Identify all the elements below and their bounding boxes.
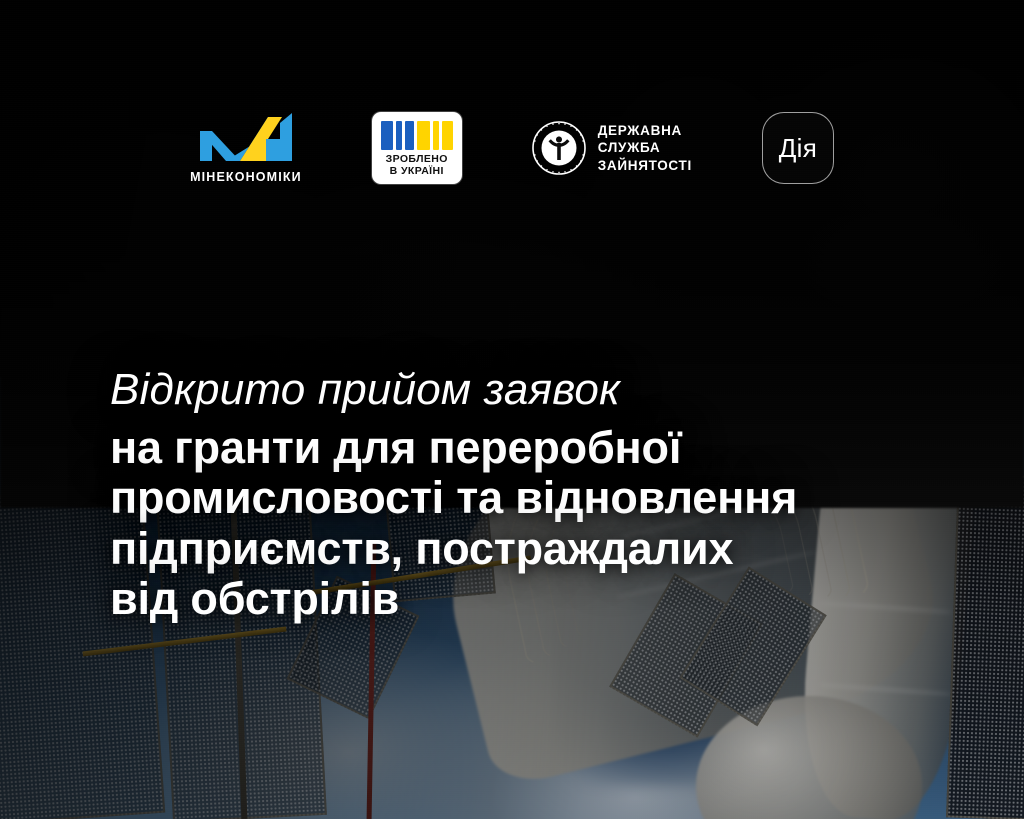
partner-logo-strip: МІНЕКОНОМІКИ ЗРОБЛЕНО В УКРАЇНІ <box>0 112 1024 184</box>
employment-service-line2: СЛУЖБА <box>598 139 692 156</box>
employment-service-emblem-icon <box>532 121 586 175</box>
made-in-ukraine-line1: ЗРОБЛЕНО <box>386 154 448 165</box>
headline-lead: Відкрито прийом заявок <box>110 368 990 412</box>
headline-line-4: від обстрілів <box>110 574 990 624</box>
made-in-ukraine-line2: В УКРАЇНІ <box>386 166 448 177</box>
headline-line-3: підприємств, постраждалих <box>110 524 990 574</box>
promo-poster: МІНЕКОНОМІКИ ЗРОБЛЕНО В УКРАЇНІ <box>0 0 1024 819</box>
employment-service-wordmark: ДЕРЖАВНА СЛУЖБА ЗАЙНЯТОСТІ <box>598 122 692 174</box>
employment-service-line1: ДЕРЖАВНА <box>598 122 692 139</box>
headline-line-1: на гранти для переробної <box>110 423 990 473</box>
logo-diia: Дія <box>762 112 834 184</box>
diia-wordmark: Дія <box>779 133 817 164</box>
employment-service-line3: ЗАЙНЯТОСТІ <box>598 157 692 174</box>
m-logo-icon <box>200 113 292 161</box>
logo-made-in-ukraine: ЗРОБЛЕНО В УКРАЇНІ <box>372 112 462 184</box>
logo-employment-service: ДЕРЖАВНА СЛУЖБА ЗАЙНЯТОСТІ <box>532 121 692 175</box>
headline-block: Відкрито прийом заявок на гранти для пер… <box>110 368 990 625</box>
logo-minekonomiky: МІНЕКОНОМІКИ <box>190 113 302 184</box>
headline-line-2: промисловості та відновлення <box>110 473 990 523</box>
ukraine-bars-icon <box>381 121 453 150</box>
minekonomiky-wordmark: МІНЕКОНОМІКИ <box>190 170 302 184</box>
made-in-ukraine-wordmark: ЗРОБЛЕНО В УКРАЇНІ <box>386 154 448 177</box>
